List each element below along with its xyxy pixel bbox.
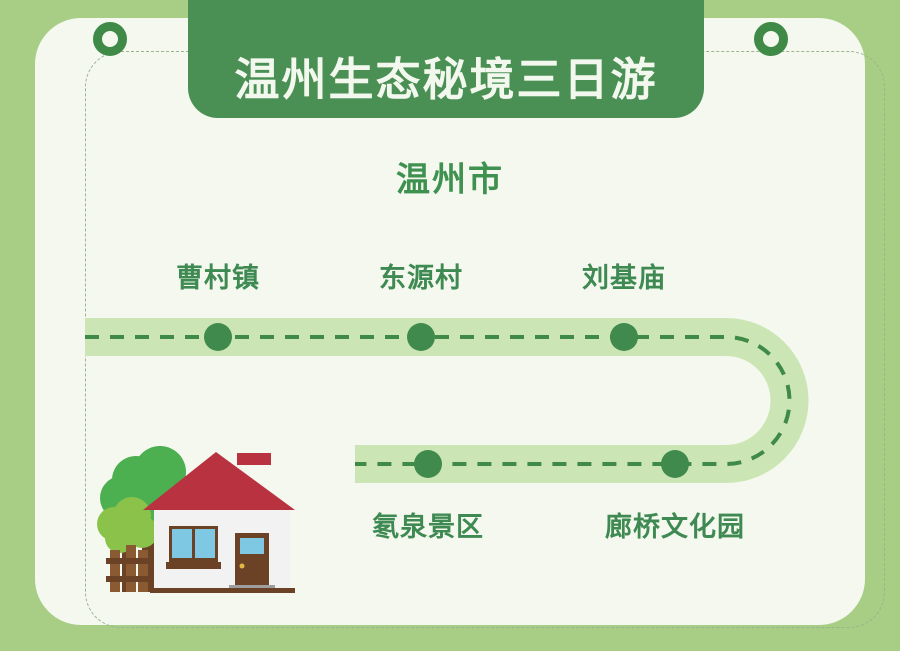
stop-label-dongyuancun[interactable]: 东源村 bbox=[379, 256, 463, 295]
page-title: 温州生态秘境三日游 bbox=[234, 57, 657, 102]
house-door-icon[interactable] bbox=[229, 533, 275, 593]
house-illustration bbox=[88, 438, 303, 598]
ground-line bbox=[150, 588, 295, 593]
stop-label-langqiaowenhuayuan[interactable]: 廊桥文化园 bbox=[605, 505, 745, 544]
house-window-icon bbox=[166, 526, 221, 569]
grommet-ring-right-icon bbox=[754, 22, 788, 56]
title-banner: 温州生态秘境三日游 bbox=[188, 0, 704, 118]
grommet-ring-left-icon bbox=[93, 22, 127, 56]
city-subtitle: 温州市 bbox=[0, 152, 900, 201]
fence-icon bbox=[106, 545, 154, 592]
stop-label-caocunzhen[interactable]: 曹村镇 bbox=[176, 256, 260, 295]
chimney-flag bbox=[237, 453, 271, 465]
poster-canvas: 温州生态秘境三日游 温州市 曹村镇 东源村 刘基庙 氡泉景区 廊桥文化园 bbox=[0, 0, 900, 651]
stop-label-liujimiao[interactable]: 刘基庙 bbox=[582, 256, 666, 295]
stop-label-dongquanjingqu[interactable]: 氡泉景区 bbox=[372, 505, 484, 544]
